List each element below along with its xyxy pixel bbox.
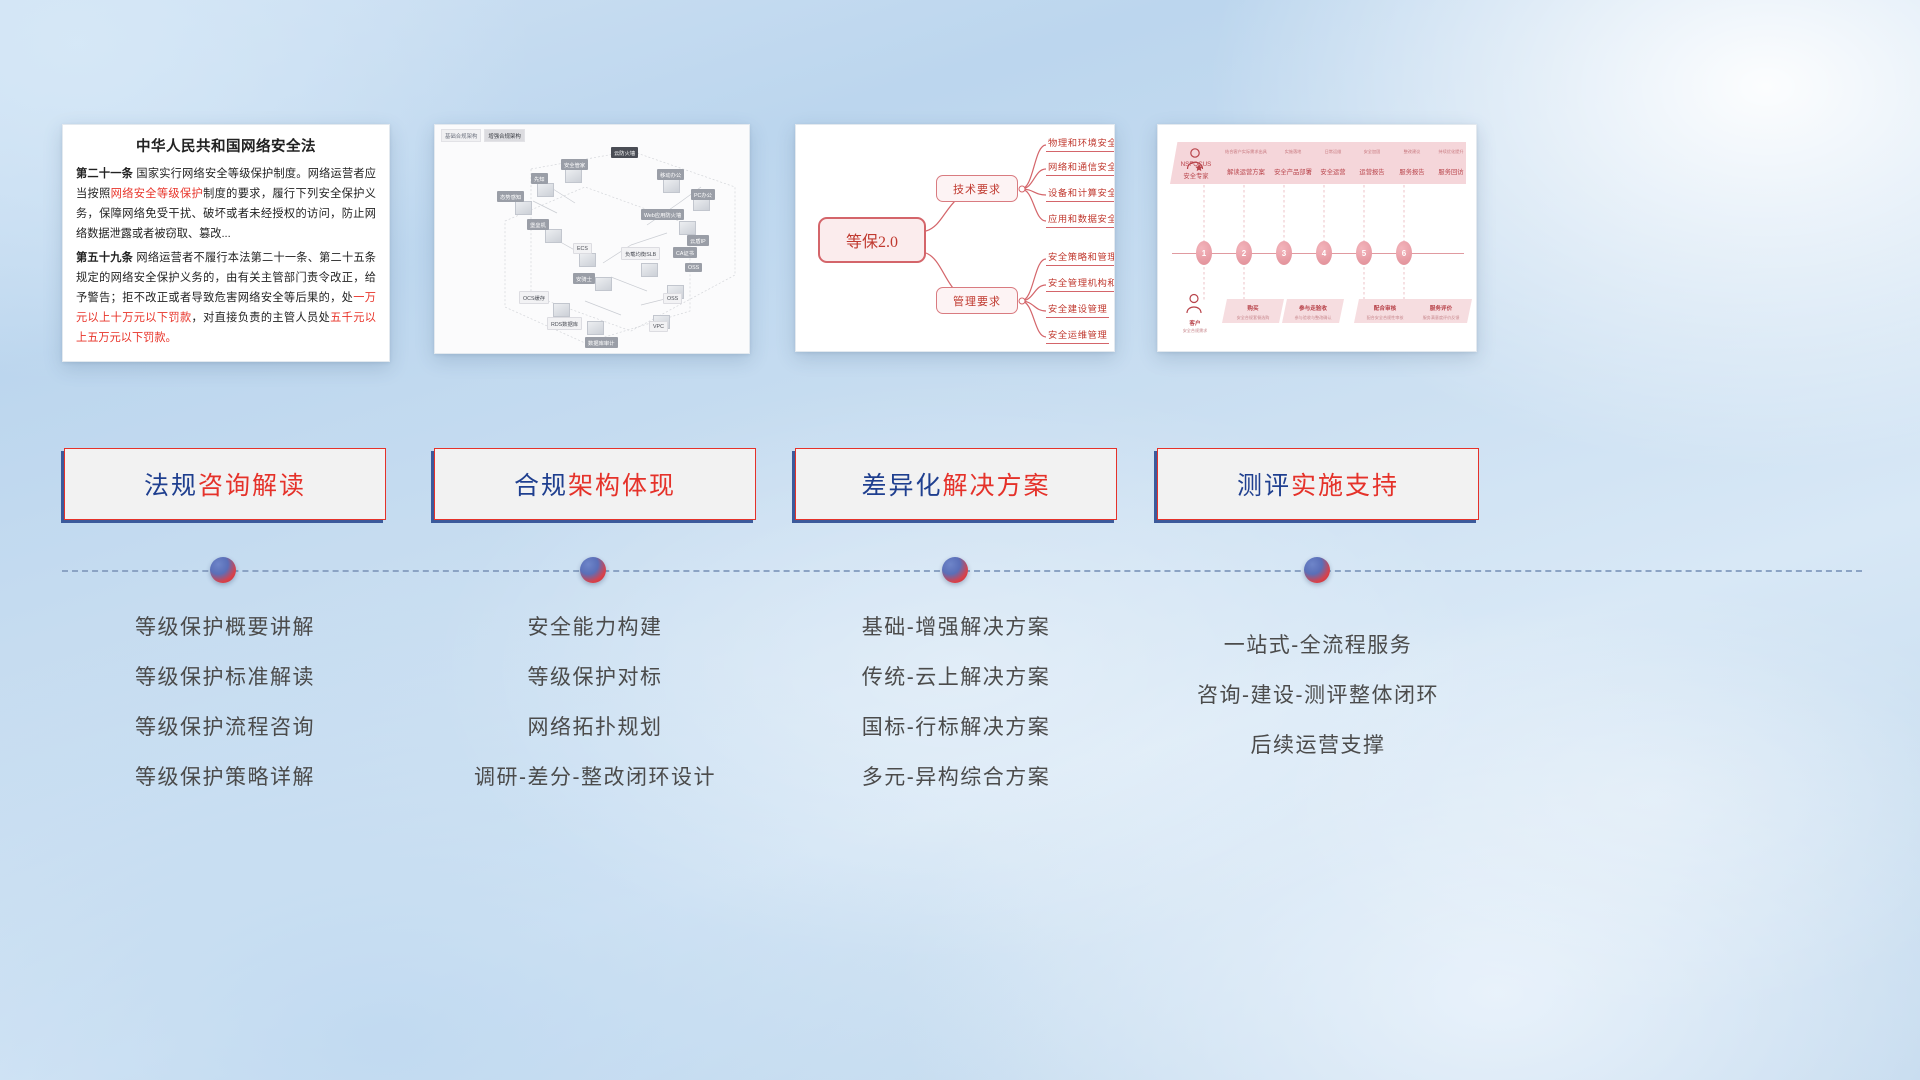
list-item: 等级保护流程咨询 bbox=[64, 703, 386, 753]
flow-tag-audit-title: 配合审核 bbox=[1354, 304, 1416, 312]
list-item: 一站式-全流程服务 bbox=[1130, 621, 1506, 671]
arch-icon-taishiganzhi bbox=[515, 201, 532, 215]
list-item: 传统-云上解决方案 bbox=[795, 653, 1117, 703]
arch-node-mobile-office: 移动办公 bbox=[657, 169, 684, 180]
label-1-red: 咨询解读 bbox=[198, 472, 306, 500]
list-item: 多元-异构综合方案 bbox=[795, 753, 1117, 803]
mindmap-leaf-policy-system: 安全策略和管理制度 bbox=[1046, 249, 1115, 266]
arch-node-yundun-ip: 云盾IP bbox=[687, 235, 709, 246]
arch-node-ecs: ECS bbox=[573, 243, 592, 254]
preview-card-row: 中华人民共和国网络安全法 第二十一条 国家实行网络安全等级保护制度。网络运营者应… bbox=[0, 124, 1920, 364]
timeline-node-1[interactable] bbox=[210, 557, 236, 583]
list-item: 国标-行标解决方案 bbox=[795, 703, 1117, 753]
list-item: 网络拓扑规划 bbox=[434, 703, 756, 753]
flow-tag-purchase-title: 购买 bbox=[1222, 304, 1284, 312]
label-4-red: 实施支持 bbox=[1291, 472, 1399, 500]
flow-tag-acceptance-title: 参与走验收 bbox=[1282, 304, 1344, 312]
law-article-59: 第五十九条 网络运营者不履行本法第二十一条、第二十五条规定的网络安全保护义务的，… bbox=[76, 249, 376, 349]
customer-person-icon bbox=[1184, 293, 1204, 319]
arch-icon-ecs bbox=[579, 253, 596, 267]
mindmap: 等保2.0 技术要求 管理要求 物理和环境安全 网络和通信安全 设备和计算安全 … bbox=[796, 125, 1114, 351]
arch-icon-baoleiji bbox=[545, 229, 562, 243]
arch-node-waf: Web应用防火墙 bbox=[641, 209, 684, 220]
flow-tag-acceptance-sub: 参与验收与整改确认 bbox=[1280, 315, 1346, 321]
arch-node-db-audit: 数据库审计 bbox=[585, 337, 618, 348]
flow-tag-purchase-sub: 安全合规套餐选购 bbox=[1220, 315, 1286, 321]
architecture-diagram: 基础合规架构 增强合规架构 bbox=[435, 125, 749, 353]
law-article-59-text-b: ，对直接负责的主管人员处 bbox=[192, 312, 331, 324]
list-item: 等级保护对标 bbox=[434, 653, 756, 703]
flow-tag-evaluation-title: 服务评价 bbox=[1410, 304, 1472, 312]
arch-icon-mobile-office bbox=[663, 179, 680, 193]
label-3-blue: 差异化 bbox=[861, 472, 942, 500]
law-article-21: 第二十一条 国家实行网络安全等级保护制度。网络运营者应当按照网络安全等级保护制度… bbox=[76, 165, 376, 245]
label-2-blue: 合规 bbox=[514, 472, 568, 500]
compliance-architecture-card[interactable]: 基础合规架构 增强合规架构 bbox=[434, 124, 750, 354]
arch-node-pc-office: PC办公 bbox=[691, 189, 715, 200]
djcp-mindmap-card[interactable]: 等保2.0 技术要求 管理要求 物理和环境安全 网络和通信安全 设备和计算安全 … bbox=[795, 124, 1115, 352]
mindmap-leaf-physical-env: 物理和环境安全 bbox=[1046, 135, 1115, 152]
flow-step-dot-4[interactable]: 4 bbox=[1316, 241, 1332, 265]
mindmap-root-node[interactable]: 等保2.0 bbox=[818, 217, 926, 263]
arch-node-oss: OSS bbox=[663, 293, 682, 304]
arch-node-taishiganzhi: 态势感知 bbox=[497, 191, 524, 202]
arch-node-gaofang-ip: OSS bbox=[685, 263, 702, 272]
arch-node-ca: CA证书 bbox=[673, 247, 697, 258]
timeline-node-3[interactable] bbox=[942, 557, 968, 583]
section-label-compliance-architecture[interactable]: 合规架构体现 bbox=[434, 448, 756, 520]
flow-step-dot-2[interactable]: 2 bbox=[1236, 241, 1252, 265]
arch-node-vpc: VPC bbox=[649, 321, 668, 332]
item-list-compliance-architecture: 安全能力构建 等级保护对标 网络拓扑规划 调研-差分-整改闭环设计 bbox=[434, 603, 756, 803]
section-label-regulation-consulting[interactable]: 法规咨询解读 bbox=[64, 448, 386, 520]
law-article-21-label: 第二十一条 bbox=[76, 168, 133, 180]
arch-node-anqishi: 安骑士 bbox=[573, 273, 595, 284]
mindmap-leaf-ops-mgmt: 安全运维管理 bbox=[1046, 327, 1109, 344]
label-4-blue: 测评 bbox=[1237, 472, 1291, 500]
label-3-red: 解决方案 bbox=[943, 472, 1051, 500]
law-text-card[interactable]: 中华人民共和国网络安全法 第二十一条 国家实行网络安全等级保护制度。网络运营者应… bbox=[62, 124, 390, 362]
flow-step-dot-5[interactable]: 5 bbox=[1356, 241, 1372, 265]
flow-step-dot-1[interactable]: 1 bbox=[1196, 241, 1212, 265]
section-label-differentiated-solution[interactable]: 差异化解决方案 bbox=[795, 448, 1117, 520]
arch-icon-rds bbox=[587, 321, 604, 335]
customer-sub-label: 安全合规需求 bbox=[1168, 328, 1222, 334]
arch-icon-xianzhi bbox=[537, 183, 554, 197]
mindmap-branch-technical[interactable]: 技术要求 bbox=[936, 175, 1018, 202]
arch-node-rds: RDS数据库 bbox=[547, 317, 582, 330]
arch-icon-slb bbox=[641, 263, 658, 277]
law-article-21-highlight: 网络安全等级保护 bbox=[111, 188, 203, 200]
item-list-assessment-support: 一站式-全流程服务 咨询-建设-测评整体闭环 后续运营支撑 bbox=[1130, 621, 1506, 771]
arch-node-ocs: OCS缓存 bbox=[519, 291, 549, 304]
list-item: 后续运营支撑 bbox=[1130, 721, 1506, 771]
list-item: 安全能力构建 bbox=[434, 603, 756, 653]
arch-node-slb: 负载均衡SLB bbox=[621, 247, 660, 260]
nsfocus-service-flow-card[interactable]: NSFOCUS 安全专家 结合客户实际需求出具 解读运营方案 实施落地 安全产品… bbox=[1157, 124, 1477, 352]
list-item: 调研-差分-整改闭环设计 bbox=[434, 753, 756, 803]
mindmap-branch-management[interactable]: 管理要求 bbox=[936, 287, 1018, 314]
mindmap-leaf-construction-mgmt: 安全建设管理 bbox=[1046, 301, 1109, 318]
list-item: 等级保护标准解读 bbox=[64, 653, 386, 703]
list-item: 基础-增强解决方案 bbox=[795, 603, 1117, 653]
timeline-node-4[interactable] bbox=[1304, 557, 1330, 583]
mindmap-leaf-app-data: 应用和数据安全 bbox=[1046, 211, 1115, 228]
list-item: 咨询-建设-测评整体闭环 bbox=[1130, 671, 1506, 721]
arch-icon-ocs bbox=[553, 303, 570, 317]
arch-node-anquanguanjia: 安全管家 bbox=[561, 159, 588, 170]
law-body: 中华人民共和国网络安全法 第二十一条 国家实行网络安全等级保护制度。网络运营者应… bbox=[63, 125, 389, 356]
flow-tag-evaluation-sub: 服务满意度评价反馈 bbox=[1408, 315, 1474, 321]
arch-icon-anquanguanjia bbox=[565, 169, 582, 183]
item-list-regulation-consulting: 等级保护概要讲解 等级保护标准解读 等级保护流程咨询 等级保护策略详解 bbox=[64, 603, 386, 803]
customer-label: 客户 bbox=[1174, 319, 1216, 327]
arch-node-yunfanghuoqiang: 云防火墙 bbox=[611, 147, 638, 158]
service-flow-diagram: NSFOCUS 安全专家 结合客户实际需求出具 解读运营方案 实施落地 安全产品… bbox=[1158, 125, 1476, 351]
list-item: 等级保护概要讲解 bbox=[64, 603, 386, 653]
section-label-row: 法规咨询解读 合规架构体现 差异化解决方案 测评实施支持 bbox=[0, 448, 1920, 520]
mindmap-leaf-org-personnel: 安全管理机构和人员 bbox=[1046, 275, 1115, 292]
section-label-assessment-support[interactable]: 测评实施支持 bbox=[1157, 448, 1479, 520]
label-1-blue: 法规 bbox=[144, 472, 198, 500]
timeline-node-2[interactable] bbox=[580, 557, 606, 583]
mindmap-leaf-device-compute: 设备和计算安全 bbox=[1046, 185, 1115, 202]
arch-icon-waf bbox=[679, 221, 696, 235]
arch-node-baoleiji: 堡垒机 bbox=[527, 219, 549, 230]
flow-step-dot-6[interactable]: 6 bbox=[1396, 241, 1412, 265]
label-2-red: 架构体现 bbox=[568, 472, 676, 500]
mindmap-leaf-network-comm: 网络和通信安全 bbox=[1046, 159, 1115, 176]
arch-node-xianzhi: 先知 bbox=[531, 173, 548, 184]
arch-icon-anqishi bbox=[595, 277, 612, 291]
law-title: 中华人民共和国网络安全法 bbox=[76, 135, 376, 156]
item-list-differentiated-solution: 基础-增强解决方案 传统-云上解决方案 国标-行标解决方案 多元-异构综合方案 bbox=[795, 603, 1117, 803]
list-item: 等级保护策略详解 bbox=[64, 753, 386, 803]
law-article-59-label: 第五十九条 bbox=[76, 252, 133, 264]
flow-step-dot-3[interactable]: 3 bbox=[1276, 241, 1292, 265]
timeline bbox=[62, 567, 1862, 575]
